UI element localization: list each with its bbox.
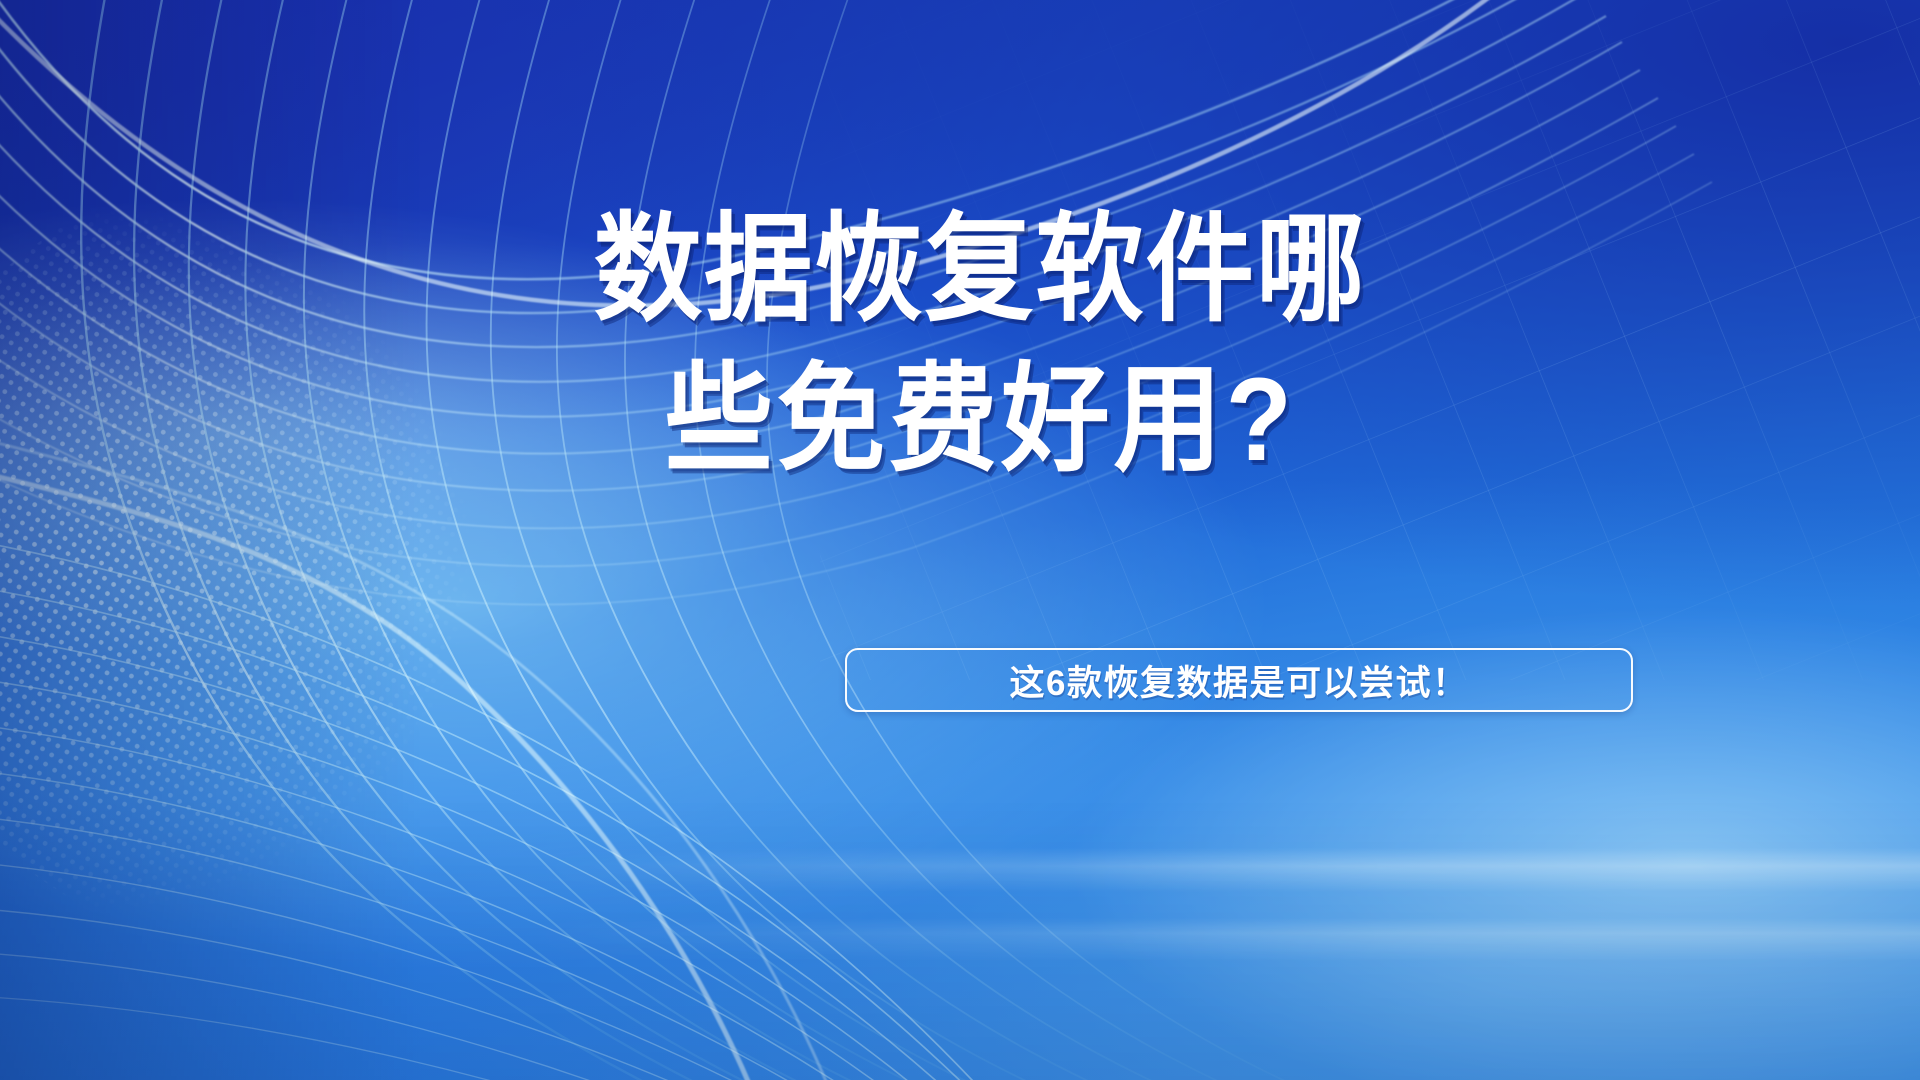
poster-canvas: 数据恢复软件哪 些免费好用? 这6款恢复数据是可以尝试！ [0,0,1920,1080]
subtitle-text: 这6款恢复数据是可以尝试！ [1010,655,1469,706]
headline-line-2: 些免费好用? [594,346,1367,496]
subtitle-badge: 这6款恢复数据是可以尝试！ [845,648,1633,712]
page-title: 数据恢复软件哪 些免费好用? [560,196,1400,496]
headline-line-1: 数据恢复软件哪 [594,196,1367,346]
background-vignette [0,0,1920,1080]
